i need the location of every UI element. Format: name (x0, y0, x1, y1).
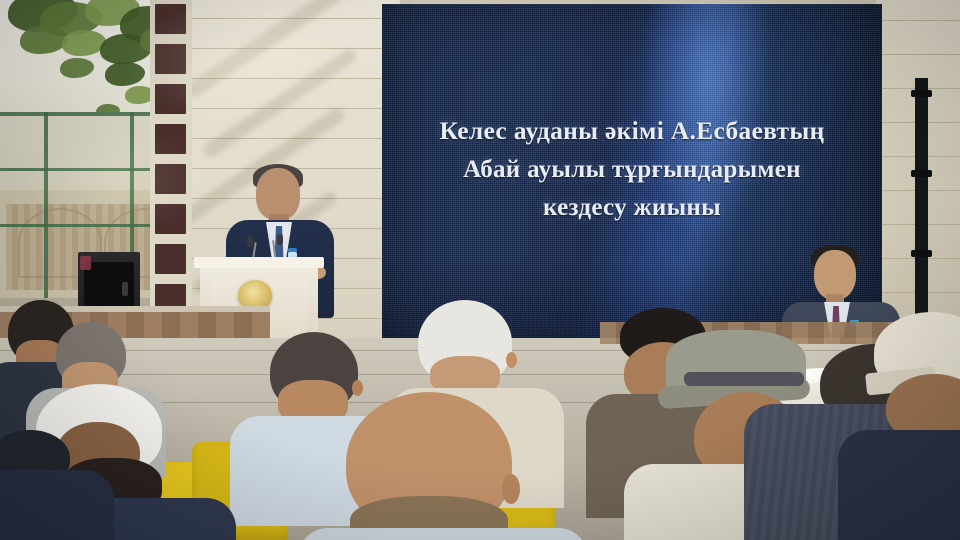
torso (298, 528, 588, 540)
photograph-scene: Келес ауданы әкімі А.Есбаевтың Абай ауыл… (0, 0, 960, 540)
audience-member-foreground-left-edge (0, 430, 100, 540)
speaker-handle (122, 282, 128, 296)
audience-member-bald-center (336, 392, 546, 540)
ear (502, 474, 520, 504)
speaker-head (256, 168, 300, 220)
brick-column (150, 0, 192, 352)
led-text-line-3: кездесу жиыны (382, 189, 882, 227)
ear (506, 352, 517, 368)
torso (0, 470, 114, 540)
led-display-text: Келес ауданы әкімі А.Есбаевтың Абай ауыл… (382, 112, 882, 227)
led-text-line-2: Абай ауылы тұрғындарымен (382, 151, 882, 189)
podium-top-surface (194, 257, 324, 268)
led-text-line-1: Келес ауданы әкімі А.Есбаевтың (382, 112, 882, 151)
torso (838, 430, 960, 540)
official-head (814, 250, 856, 300)
speaker-cable-tag (80, 256, 91, 270)
audience-member-pale-cap-right (868, 312, 960, 492)
